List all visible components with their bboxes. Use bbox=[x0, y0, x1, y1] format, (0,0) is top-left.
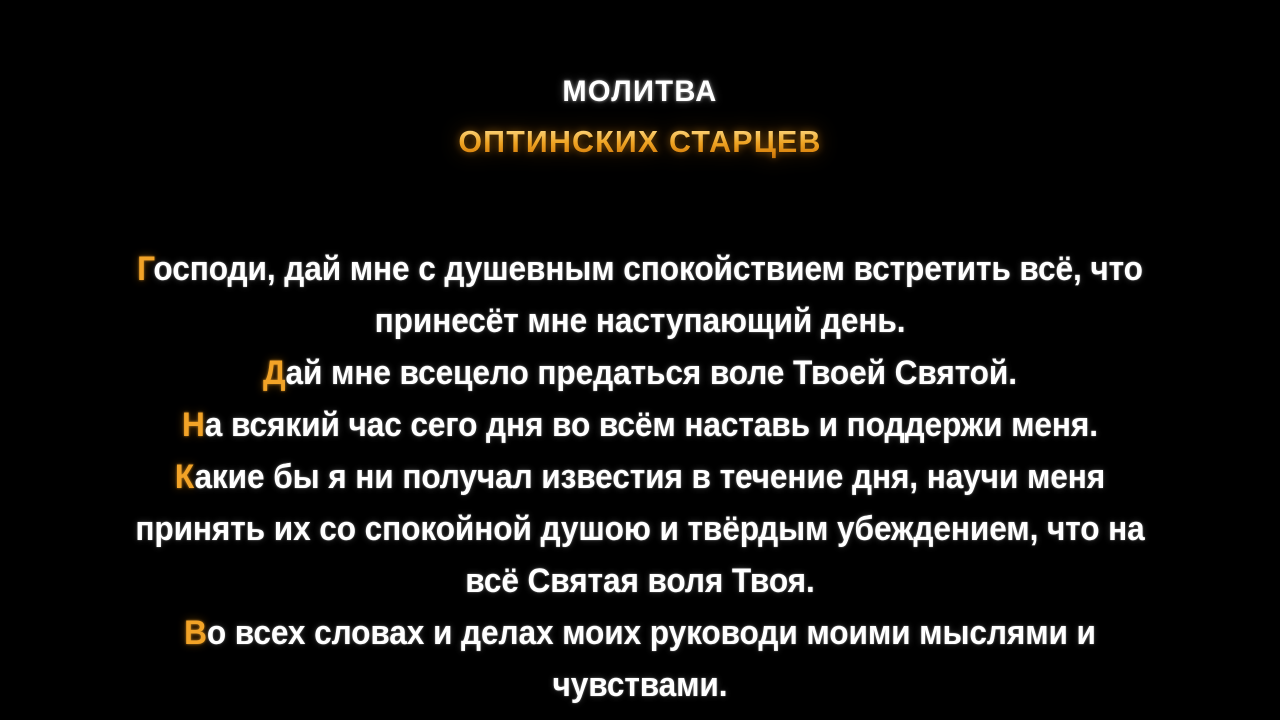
prayer-text-block: Господи, дай мне с душевным спокойствием… bbox=[0, 243, 1280, 711]
drop-cap: В bbox=[184, 614, 207, 652]
prayer-line-text: акие бы я ни получал известия в течение … bbox=[194, 458, 1105, 496]
prayer-line: Господи, дай мне с душевным спокойствием… bbox=[45, 243, 1235, 295]
prayer-line: принесёт мне наступающий день. bbox=[45, 295, 1235, 347]
prayer-line: принять их со спокойной душою и твёрдым … bbox=[45, 503, 1235, 555]
heading-block: МОЛИТВА ОПТИНСКИХ СТАРЦЕВ bbox=[0, 74, 1280, 161]
prayer-line-text: всё Святая воля Твоя. bbox=[465, 562, 814, 600]
drop-cap: К bbox=[175, 458, 195, 496]
prayer-line: чувствами. bbox=[45, 659, 1235, 711]
prayer-line: Во всех словах и делах моих руководи мои… bbox=[45, 607, 1235, 659]
prayer-line-text: а всякий час сего дня во всём наставь и … bbox=[205, 406, 1098, 444]
prayer-line: Дай мне всецело предаться воле Твоей Свя… bbox=[45, 347, 1235, 399]
prayer-line-text: осподи, дай мне с душевным спокойствием … bbox=[153, 250, 1142, 288]
drop-cap: Н bbox=[182, 406, 205, 444]
drop-cap: Г bbox=[137, 250, 153, 288]
page-subtitle: ОПТИНСКИХ СТАРЦЕВ bbox=[13, 123, 1267, 161]
prayer-line-text: о всех словах и делах моих руководи моим… bbox=[207, 614, 1096, 652]
page-title: МОЛИТВА bbox=[19, 74, 1261, 110]
prayer-line-text: ай мне всецело предаться воле Твоей Свят… bbox=[285, 354, 1016, 392]
prayer-line-text: принять их со спокойной душою и твёрдым … bbox=[135, 510, 1144, 548]
prayer-line-text: принесёт мне наступающий день. bbox=[375, 302, 906, 340]
prayer-line: На всякий час сего дня во всём наставь и… bbox=[45, 399, 1235, 451]
prayer-line: Какие бы я ни получал известия в течение… bbox=[45, 451, 1235, 503]
prayer-line-text: чувствами. bbox=[553, 666, 728, 704]
prayer-slide: МОЛИТВА ОПТИНСКИХ СТАРЦЕВ Господи, дай м… bbox=[0, 0, 1280, 720]
drop-cap: Д bbox=[263, 354, 285, 392]
prayer-line: всё Святая воля Твоя. bbox=[45, 555, 1235, 607]
